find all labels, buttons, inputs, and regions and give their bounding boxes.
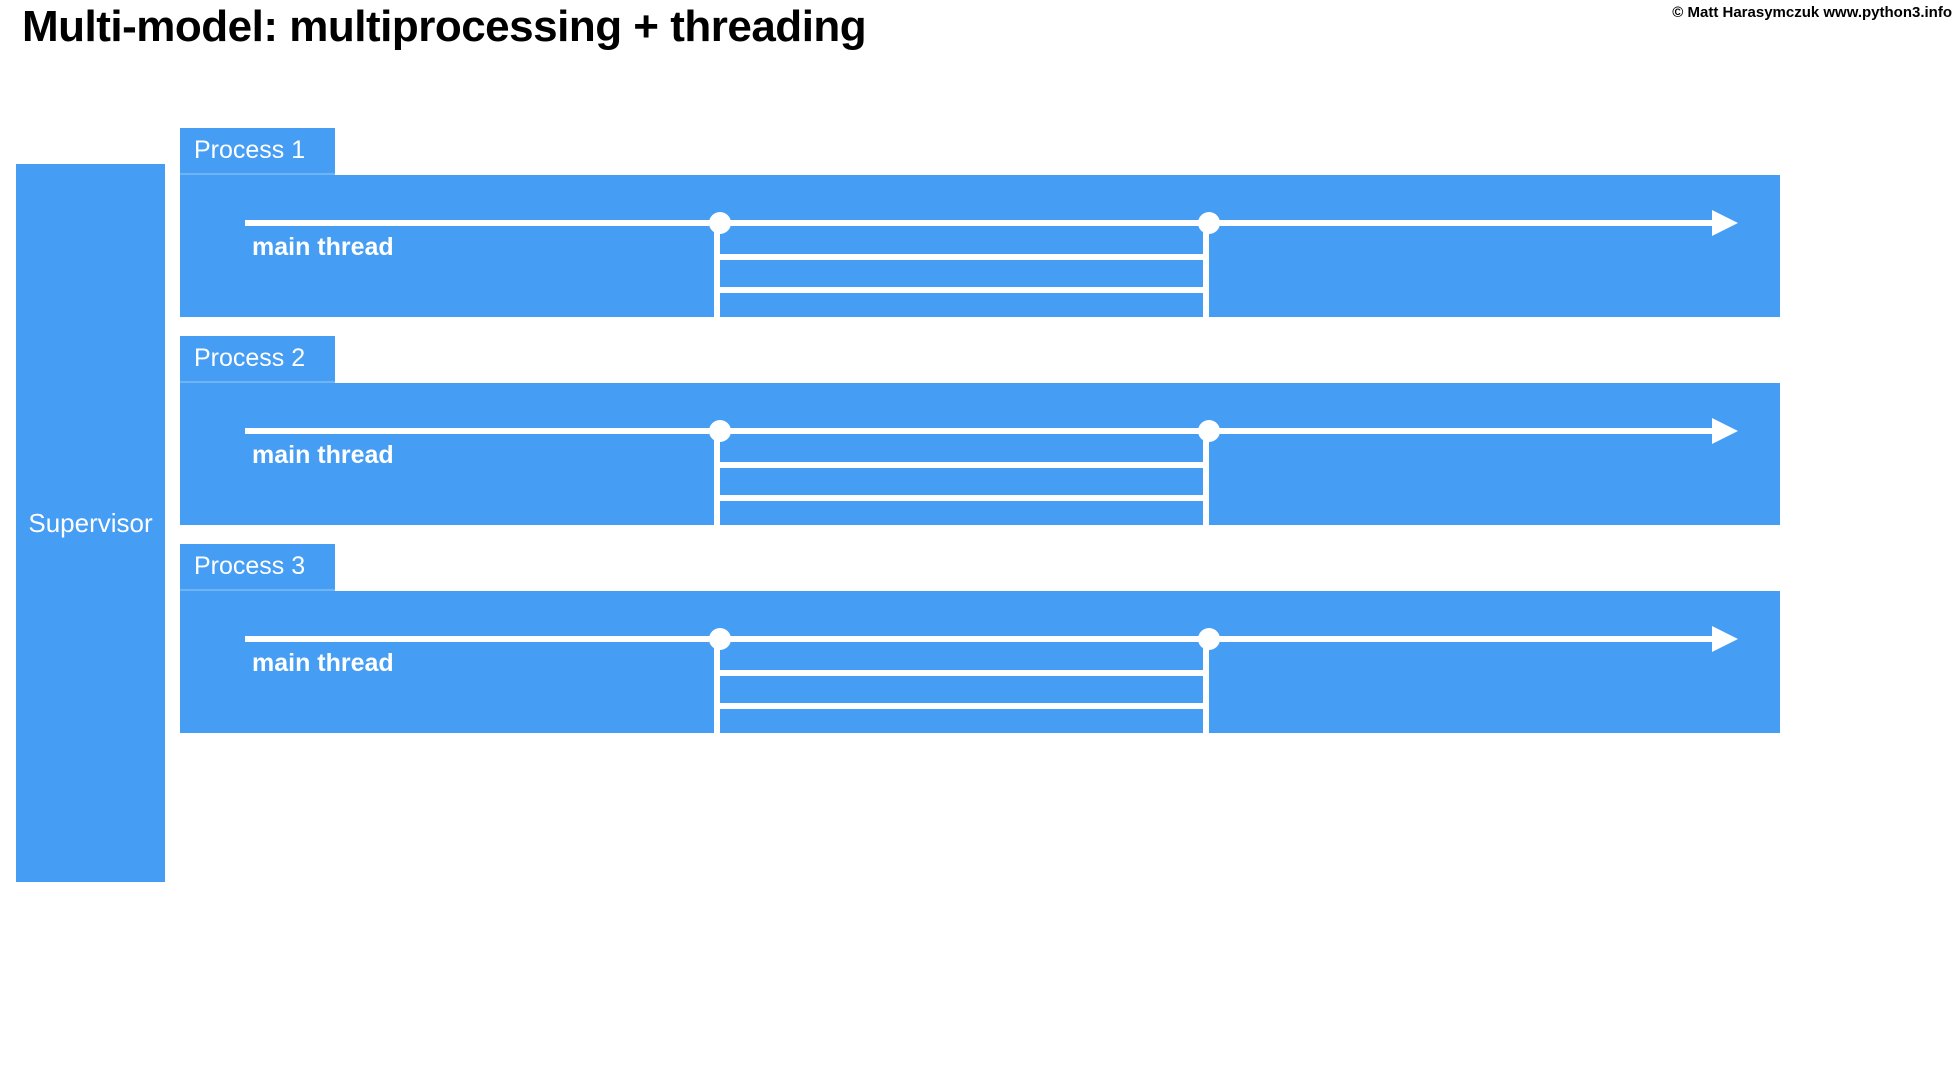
page-title: Multi-model: multiprocessing + threading: [22, 2, 866, 52]
main-thread-arrow-icon-3: [1712, 626, 1738, 652]
worker-threads-bracket-2: [714, 431, 1209, 531]
fork-point-dot-2: [709, 420, 731, 442]
join-connector-line-2: [1203, 431, 1209, 531]
worker-thread-lane-1-2: [714, 287, 1209, 293]
main-thread-label-1: main thread: [252, 233, 394, 262]
fork-connector-line-2: [714, 431, 720, 531]
process-body-2: main thread: [180, 383, 1780, 525]
join-connector-line-3: [1203, 639, 1209, 739]
main-thread-arrow-icon-1: [1712, 210, 1738, 236]
worker-threads-bracket-1: [714, 223, 1209, 323]
process-header-label-1: Process 1: [180, 136, 305, 165]
process-header-tab-2: Process 2: [180, 336, 335, 381]
worker-thread-lane-2-2: [714, 495, 1209, 501]
worker-thread-lane-3-1: [714, 670, 1209, 676]
main-thread-arrow-icon-2: [1712, 418, 1738, 444]
worker-thread-lane-1-3: [714, 317, 1209, 323]
main-thread-label-2: main thread: [252, 441, 394, 470]
fork-connector-line-3: [714, 639, 720, 739]
main-thread-label-3: main thread: [252, 649, 394, 678]
fork-point-dot-1: [709, 212, 731, 234]
fork-connector-line-1: [714, 223, 720, 323]
worker-threads-bracket-3: [714, 639, 1209, 739]
copyright-notice: © Matt Harasymczuk www.python3.info: [1672, 4, 1952, 21]
worker-thread-lane-2-3: [714, 525, 1209, 531]
process-header-label-3: Process 3: [180, 552, 305, 581]
join-point-dot-1: [1198, 212, 1220, 234]
fork-point-dot-3: [709, 628, 731, 650]
supervisor-block: Supervisor: [16, 164, 165, 882]
worker-thread-lane-3-3: [714, 733, 1209, 739]
worker-thread-lane-3-2: [714, 703, 1209, 709]
join-connector-line-1: [1203, 223, 1209, 323]
process-header-tab-3: Process 3: [180, 544, 335, 589]
process-header-label-2: Process 2: [180, 344, 305, 373]
process-header-tab-1: Process 1: [180, 128, 335, 173]
process-body-3: main thread: [180, 591, 1780, 733]
process-body-1: main thread: [180, 175, 1780, 317]
supervisor-label: Supervisor: [28, 509, 152, 538]
worker-thread-lane-2-1: [714, 462, 1209, 468]
join-point-dot-3: [1198, 628, 1220, 650]
worker-thread-lane-1-1: [714, 254, 1209, 260]
join-point-dot-2: [1198, 420, 1220, 442]
